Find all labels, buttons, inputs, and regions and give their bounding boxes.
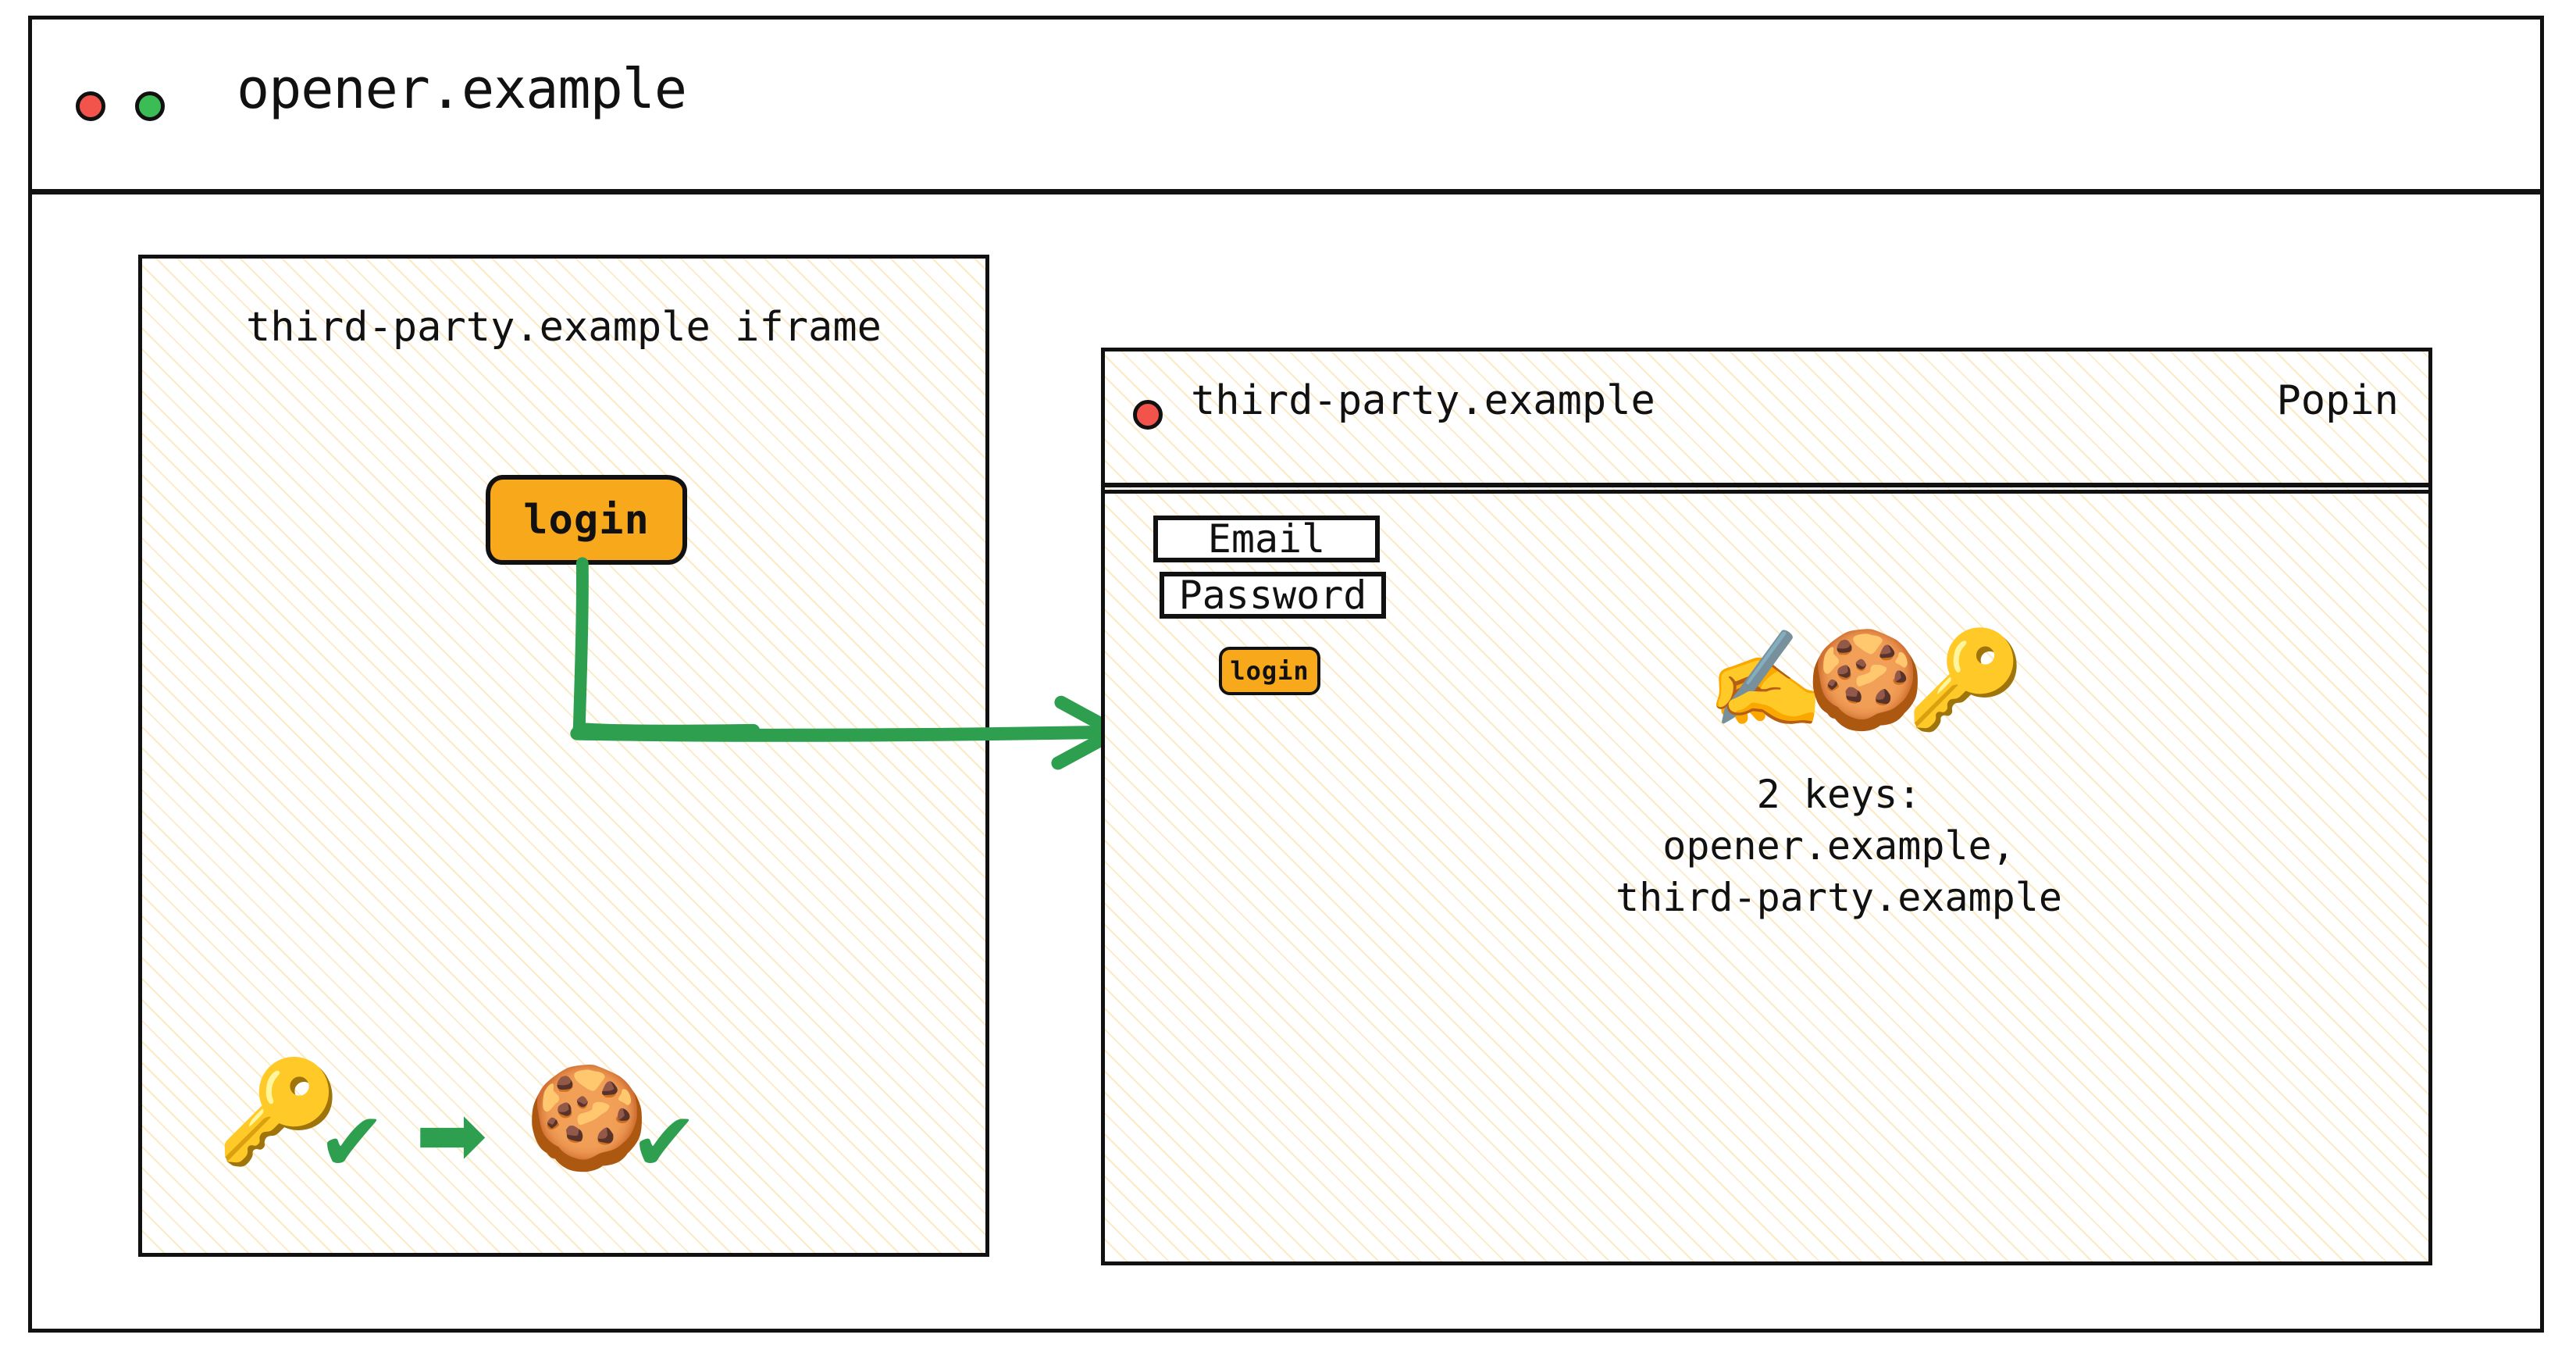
- email-field[interactable]: Email: [1153, 516, 1380, 562]
- popin-titlebar: third-party.example Popin: [1105, 351, 2428, 487]
- popin-login-button[interactable]: login: [1219, 647, 1320, 695]
- expand-dot-icon[interactable]: [135, 91, 165, 121]
- iframe-title: third-party.example iframe: [142, 304, 985, 351]
- popin-type-label: Popin: [2276, 377, 2399, 424]
- close-dot-icon[interactable]: [76, 91, 105, 121]
- popin-close-dot-icon[interactable]: [1133, 400, 1163, 430]
- third-party-iframe-panel: third-party.example iframe login 🔑 ✔ ➡ 🍪…: [138, 255, 989, 1257]
- key-icon: 🔑: [1906, 632, 2025, 727]
- password-field[interactable]: Password: [1160, 572, 1386, 619]
- popin-origin-label: third-party.example: [1191, 377, 1655, 424]
- browser-titlebar: opener.example: [32, 20, 2540, 194]
- popin-window: third-party.example Popin Email Password…: [1101, 348, 2432, 1265]
- right-arrow-icon: ➡: [415, 1092, 487, 1178]
- browser-content: third-party.example iframe login 🔑 ✔ ➡ 🍪…: [32, 194, 2540, 1329]
- window-title: opener.example: [237, 57, 686, 121]
- check-mark-icon: ✔: [318, 1101, 386, 1183]
- iframe-login-button[interactable]: login: [486, 475, 687, 565]
- popin-keys-note: 2 keys: opener.example, third-party.exam…: [1597, 769, 2081, 923]
- check-mark-icon: ✔: [630, 1101, 698, 1183]
- browser-window: opener.example third-party.example ifram…: [28, 16, 2544, 1333]
- popin-storage-row: ✍️ 🍪 🔑: [1706, 632, 1964, 741]
- iframe-storage-row: 🔑 ✔ ➡ 🍪 ✔: [173, 1045, 954, 1225]
- popin-content: Email Password login ✍️ 🍪 🔑 2 keys: open…: [1105, 487, 2428, 1257]
